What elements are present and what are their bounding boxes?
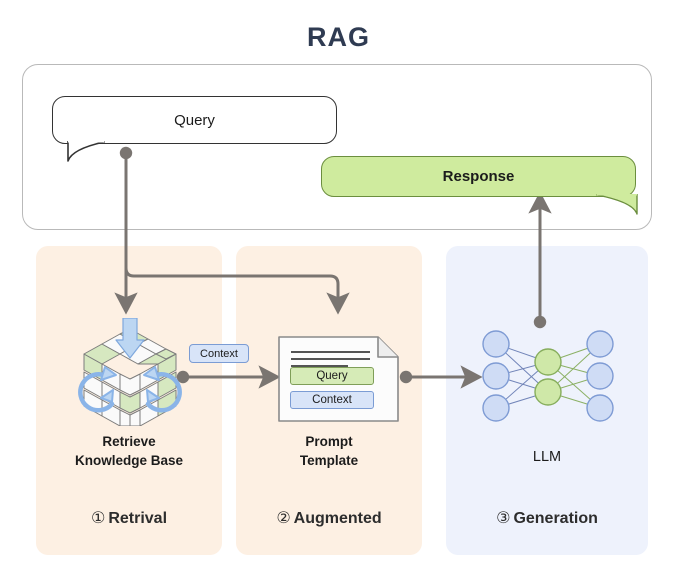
prompt-template-query-label: Query — [316, 370, 347, 382]
llm-caption: LLM — [446, 448, 648, 467]
response-bubble-tail — [595, 194, 639, 216]
stage-label-generation: ③Generation — [446, 508, 648, 528]
stage-label-text-2: Augmented — [294, 510, 382, 527]
knowledge-base-cube-icon — [72, 318, 188, 426]
stage-number-2: ② — [276, 510, 290, 527]
prompt-template-query-field: Query — [290, 367, 374, 385]
stage-number-3: ③ — [496, 510, 510, 527]
prompt-template-context-label: Context — [312, 394, 352, 406]
stage-label-retrieval: ①Retrival — [36, 508, 222, 528]
io-container-panel — [22, 64, 652, 230]
knowledge-base-caption-line2: Knowledge Base — [36, 451, 222, 470]
page-title: RAG — [0, 22, 677, 53]
stage-label-augmented: ②Augmented — [236, 508, 422, 528]
prompt-template-caption-line1: Prompt — [236, 432, 422, 451]
llm-caption-line1: LLM — [446, 448, 648, 467]
query-bubble-label: Query — [174, 112, 215, 129]
response-bubble[interactable]: Response — [321, 156, 636, 197]
prompt-template-caption: Prompt Template — [236, 432, 422, 470]
prompt-template-caption-line2: Template — [236, 451, 422, 470]
knowledge-base-caption-line1: Retrieve — [36, 432, 222, 451]
knowledge-base-caption: Retrieve Knowledge Base — [36, 432, 222, 470]
query-bubble[interactable]: Query — [52, 96, 337, 144]
stage-number-1: ① — [91, 510, 105, 527]
rag-diagram-canvas: RAG Query Respo — [0, 0, 677, 572]
prompt-template-context-field: Context — [290, 391, 374, 409]
context-badge-label: Context — [200, 348, 238, 360]
context-badge: Context — [189, 344, 249, 363]
response-bubble-label: Response — [443, 168, 515, 185]
stage-label-text-3: Generation — [513, 510, 597, 527]
query-bubble-tail — [66, 141, 106, 163]
neural-network-icon — [478, 330, 618, 422]
stage-label-text-1: Retrival — [108, 510, 167, 527]
